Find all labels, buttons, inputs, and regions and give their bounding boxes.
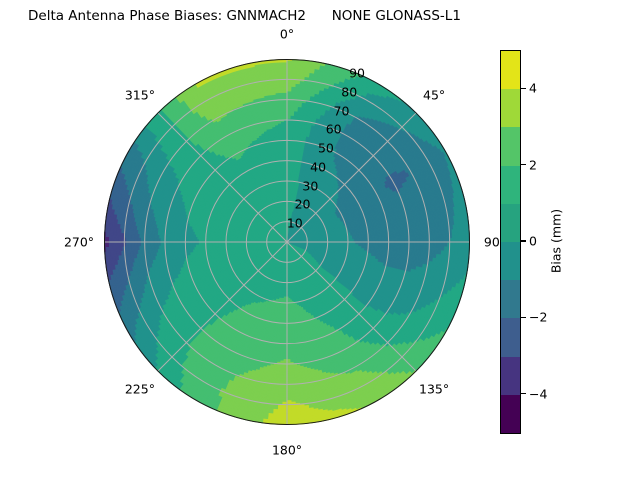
- colorbar-tick: [521, 164, 526, 165]
- angular-tick-label: 0°: [280, 27, 294, 42]
- radial-tick-label: 50: [318, 141, 334, 156]
- radial-tick-label: 20: [295, 197, 311, 212]
- colorbar-band: [501, 127, 520, 165]
- radial-tick-label: 60: [326, 122, 342, 137]
- colorbar-tick-label: −4: [529, 386, 547, 401]
- colorbar-band: [501, 166, 520, 204]
- radial-tick-label: 70: [334, 103, 350, 118]
- colorbar-tick: [521, 88, 526, 89]
- angular-tick-label: 180°: [272, 443, 302, 458]
- angular-tick-label: 315°: [125, 87, 155, 102]
- angular-tick-label: 270°: [64, 235, 94, 250]
- colorbar-tick-label: −2: [529, 310, 547, 325]
- polar-plot[interactable]: [104, 59, 470, 425]
- polar-contour-svg: [104, 59, 470, 425]
- angular-tick-label: 225°: [125, 382, 155, 397]
- colorbar-band: [501, 318, 520, 356]
- figure-title: Delta Antenna Phase Biases: GNNMACH2 NON…: [0, 8, 640, 24]
- colorbar-band: [501, 51, 520, 89]
- angular-tick-label: 45°: [423, 87, 445, 102]
- radial-tick-label: 40: [310, 159, 326, 174]
- colorbar-label: Bias (mm): [549, 209, 564, 273]
- colorbar-tick-label: 2: [529, 157, 537, 172]
- colorbar-band: [501, 280, 520, 318]
- colorbar-tick: [521, 317, 526, 318]
- radial-tick-label: 10: [287, 216, 303, 231]
- colorbar-band: [501, 395, 520, 433]
- radial-tick-label: 80: [341, 84, 357, 99]
- colorbar-band: [501, 89, 520, 127]
- angular-tick-label: 135°: [419, 382, 449, 397]
- colorbar-band: [501, 242, 520, 280]
- colorbar-band: [501, 357, 520, 395]
- colorbar-tick: [521, 393, 526, 394]
- radial-tick-label: 30: [302, 178, 318, 193]
- colorbar-tick-label: 0: [529, 234, 537, 249]
- figure-canvas: Delta Antenna Phase Biases: GNNMACH2 NON…: [0, 0, 640, 480]
- colorbar-tick: [521, 240, 526, 241]
- polar-data-surface: [104, 59, 470, 425]
- colorbar-band: [501, 204, 520, 242]
- colorbar[interactable]: [500, 50, 521, 434]
- colorbar-tick-label: 4: [529, 81, 537, 96]
- radial-tick-label: 90: [349, 65, 365, 80]
